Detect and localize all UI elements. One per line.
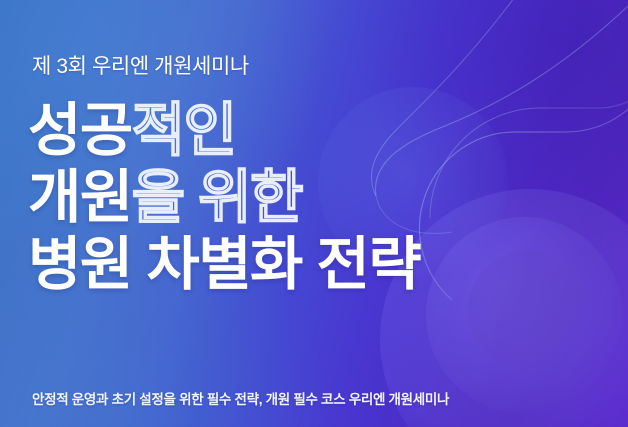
banner-content: 제 3회 우리엔 개원세미나 성공적인 개원을 위한 병원 차별화 전략 안정적… (0, 0, 628, 427)
banner-eyebrow: 제 3회 우리엔 개원세미나 (32, 50, 249, 80)
headline-line-1: 성공적인 (28, 103, 420, 160)
headline-line-1-outline: 적인 (132, 98, 236, 163)
banner-headline: 성공적인 개원을 위한 병원 차별화 전략 (28, 103, 420, 293)
seminar-promo-banner: 제 3회 우리엔 개원세미나 성공적인 개원을 위한 병원 차별화 전략 안정적… (0, 0, 628, 427)
banner-subtitle: 안정적 운영과 초기 설정을 위한 필수 전략, 개원 필수 코스 우리엔 개원… (32, 388, 449, 408)
headline-line-1-solid: 성공 (28, 98, 132, 163)
headline-line-3-solid: 병원 차별화 전략 (28, 232, 420, 297)
headline-line-3: 병원 차별화 전략 (28, 237, 420, 294)
headline-line-2: 개원을 위한 (28, 170, 420, 227)
headline-line-2-outline: 을 위한 (132, 165, 302, 230)
headline-line-2-solid: 개원 (28, 165, 132, 230)
